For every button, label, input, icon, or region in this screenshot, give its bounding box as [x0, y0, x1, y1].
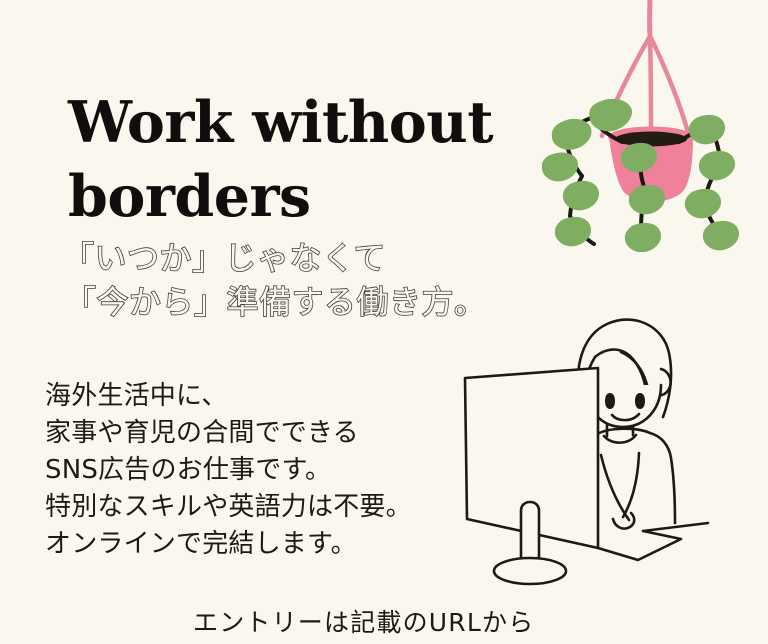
body-line-4: 特別なスキルや英語力は不要。 [45, 489, 445, 526]
poster-canvas: Work without borders 「いつか」じゃなくて 「今から」準備す… [0, 0, 768, 644]
plant-leaves [542, 99, 739, 252]
plant-pot [608, 127, 694, 202]
body-line-1: 海外生活中に、 [45, 378, 445, 415]
monitor-stand [521, 502, 539, 568]
body-line-3: SNS広告のお仕事です。 [45, 452, 445, 489]
person-ear [654, 369, 671, 395]
computer-monitor [465, 368, 598, 584]
body-line-5: オンラインで完結します。 [45, 526, 445, 563]
subheading-line-1: 「いつか」じゃなくて [62, 236, 542, 280]
person-arm [601, 453, 639, 529]
headline-line-2: borders [68, 160, 538, 234]
person-head [578, 320, 671, 421]
subheading-line-2: 「今から」準備する働き方。 [64, 280, 542, 324]
desk-surface [598, 523, 708, 560]
person-eye-left [605, 393, 615, 409]
plant-hanger-ropes [602, 0, 689, 142]
person-torso [574, 429, 675, 525]
person-collar [604, 435, 636, 443]
body-line-2: 家事や育児の合間でできる [45, 415, 445, 452]
monitor-base [494, 558, 566, 584]
person-eye-right [635, 393, 645, 409]
entry-cta-text: エントリーは記載のURLから [193, 606, 534, 640]
plant-vines [565, 118, 720, 244]
hanging-plant-illustration [540, 0, 768, 257]
headline-line-1: Work without [68, 86, 538, 160]
woman-at-computer-illustration [455, 305, 768, 610]
person-face [586, 385, 661, 427]
subheading: 「いつか」じゃなくて 「今から」準備する働き方。 [62, 236, 542, 324]
page-title: Work without borders [68, 86, 538, 234]
person-mouth [612, 414, 639, 420]
body-copy: 海外生活中に、 家事や育児の合間でできる SNS広告のお仕事です。 特別なスキル… [45, 378, 445, 563]
pot-soil [615, 132, 687, 147]
